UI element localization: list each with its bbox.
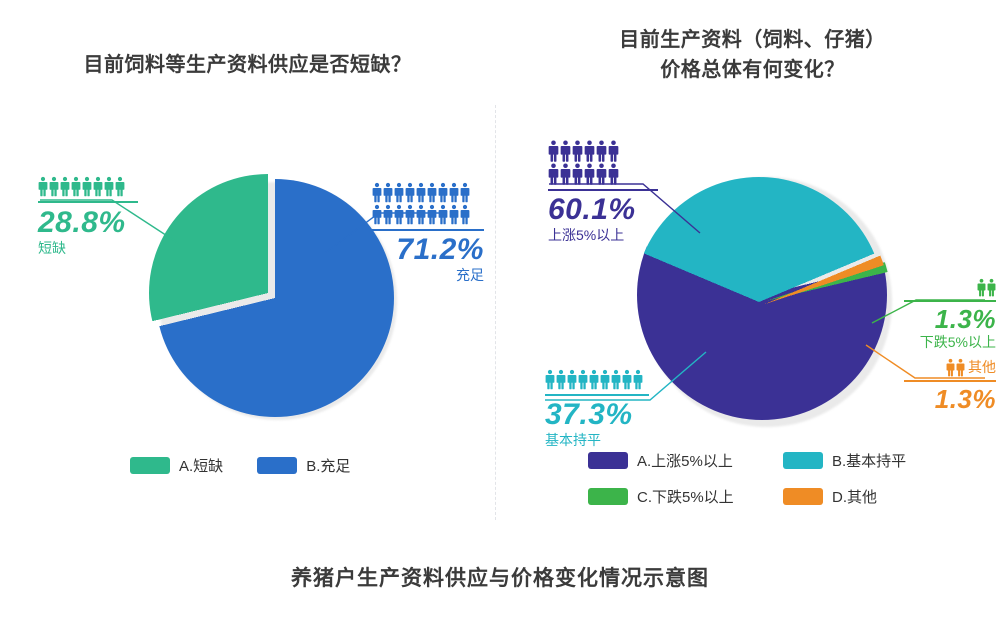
callout-percent: 37.3% [545, 399, 649, 431]
people-icon-row [372, 182, 484, 203]
left-chart-title: 目前饲料等生产资料供应是否短缺？ [0, 50, 495, 80]
person-icon [589, 369, 599, 390]
legend-swatch [783, 488, 823, 505]
person-icon [416, 204, 426, 225]
person-icon [372, 204, 382, 225]
legend-item[interactable]: A.上涨5%以上 [588, 450, 783, 471]
legend-swatch [588, 452, 628, 469]
person-icon [405, 204, 415, 225]
person-icon [608, 163, 619, 185]
person-icon [548, 163, 559, 185]
panel-divider [495, 105, 496, 520]
right-pie-slice-other[interactable] [640, 179, 890, 429]
person-icon [567, 369, 577, 390]
callout-rule [545, 394, 649, 396]
callout-percent: 71.2% [372, 234, 484, 266]
person-icon [977, 278, 986, 297]
person-icon [545, 369, 555, 390]
person-icon [584, 140, 595, 162]
callout-sublabel: 基本持平 [545, 431, 649, 450]
people-icon-row [548, 163, 658, 185]
legend-swatch [257, 457, 297, 474]
person-icon [560, 163, 571, 185]
callout-percent: 28.8% [38, 207, 138, 239]
person-icon [946, 358, 955, 377]
person-icon [438, 182, 448, 203]
callout-rule [372, 229, 484, 231]
infographic-canvas: 目前饲料等生产资料供应是否短缺？ 目前生产资料（饲料、仔猪） 价格总体有何变化？… [0, 0, 1000, 627]
person-icon [572, 163, 583, 185]
callout-left-sufficient: 71.2% 充足 [372, 182, 484, 285]
person-icon [584, 163, 595, 185]
callout-right-up5: 60.1% 上涨5%以上 [548, 140, 658, 245]
callout-rule [904, 380, 996, 382]
person-icon [578, 369, 588, 390]
legend-label: D.其他 [832, 486, 877, 507]
person-icon [38, 176, 48, 197]
people-icon-row [372, 204, 484, 225]
callout-rule [38, 201, 138, 203]
person-icon [449, 204, 459, 225]
legend-item[interactable]: B.基本持平 [783, 450, 978, 471]
person-icon [556, 369, 566, 390]
person-icon [104, 176, 114, 197]
left-pie-slice-shortage[interactable] [149, 174, 387, 412]
people-icon-row [38, 176, 138, 197]
legend-item[interactable]: B.充足 [257, 455, 350, 476]
person-icon [449, 182, 459, 203]
person-icon [596, 140, 607, 162]
legend-label: B.基本持平 [832, 450, 906, 471]
legend-swatch [588, 488, 628, 505]
legend-item[interactable]: D.其他 [783, 486, 978, 507]
callout-sublabel: 充足 [372, 266, 484, 285]
callout-sublabel: 上涨5%以上 [548, 226, 658, 245]
callout-right-flat: 37.3% 基本持平 [545, 369, 649, 450]
legend-label: C.下跌5%以上 [637, 486, 734, 507]
people-icon-row [545, 369, 649, 390]
person-icon [622, 369, 632, 390]
callout-left-shortage: 28.8% 短缺 [38, 176, 138, 258]
person-icon [633, 369, 643, 390]
left-chart-legend: A.短缺B.充足 [130, 455, 350, 476]
callout-sublabel: 其他 [968, 358, 996, 377]
legend-swatch [783, 452, 823, 469]
callout-rule [904, 300, 996, 302]
person-icon [60, 176, 70, 197]
person-icon [438, 204, 448, 225]
callout-sublabel: 短缺 [38, 239, 138, 258]
right-chart-title: 目前生产资料（饲料、仔猪） 价格总体有何变化？ [505, 25, 1000, 85]
legend-swatch [130, 457, 170, 474]
person-icon [416, 182, 426, 203]
person-icon [548, 140, 559, 162]
legend-label: A.上涨5%以上 [637, 450, 733, 471]
legend-label: B.充足 [306, 455, 350, 476]
person-icon [394, 204, 404, 225]
callout-percent: 1.3% [904, 305, 996, 333]
callout-rule [548, 189, 658, 191]
person-icon [427, 182, 437, 203]
person-icon [383, 204, 393, 225]
person-icon [427, 204, 437, 225]
person-icon [372, 182, 382, 203]
person-icon [611, 369, 621, 390]
callout-percent: 1.3% [904, 385, 996, 413]
legend-item[interactable]: A.短缺 [130, 455, 223, 476]
person-icon [460, 182, 470, 203]
person-icon [600, 369, 610, 390]
person-icon [93, 176, 103, 197]
person-icon [71, 176, 81, 197]
person-icon [115, 176, 125, 197]
legend-label: A.短缺 [179, 455, 223, 476]
callout-right-other: 其他 1.3% [904, 358, 996, 413]
person-icon [572, 140, 583, 162]
people-icon-row [946, 358, 965, 377]
person-icon [394, 182, 404, 203]
legend-item[interactable]: C.下跌5%以上 [588, 486, 783, 507]
person-icon [560, 140, 571, 162]
person-icon [987, 278, 996, 297]
person-icon [405, 182, 415, 203]
person-icon [460, 204, 470, 225]
person-icon [49, 176, 59, 197]
right-chart-legend: A.上涨5%以上B.基本持平C.下跌5%以上D.其他 [588, 450, 978, 507]
callout-sublabel: 下跌5%以上 [904, 333, 996, 352]
person-icon [383, 182, 393, 203]
figure-caption: 养猪户生产资料供应与价格变化情况示意图 [0, 562, 1000, 592]
person-icon [82, 176, 92, 197]
person-icon [956, 358, 965, 377]
people-icon-row [904, 278, 996, 297]
person-icon [596, 163, 607, 185]
people-icon-row [548, 140, 658, 162]
callout-percent: 60.1% [548, 194, 658, 226]
callout-right-down5: 1.3% 下跌5%以上 [904, 278, 996, 352]
person-icon [608, 140, 619, 162]
